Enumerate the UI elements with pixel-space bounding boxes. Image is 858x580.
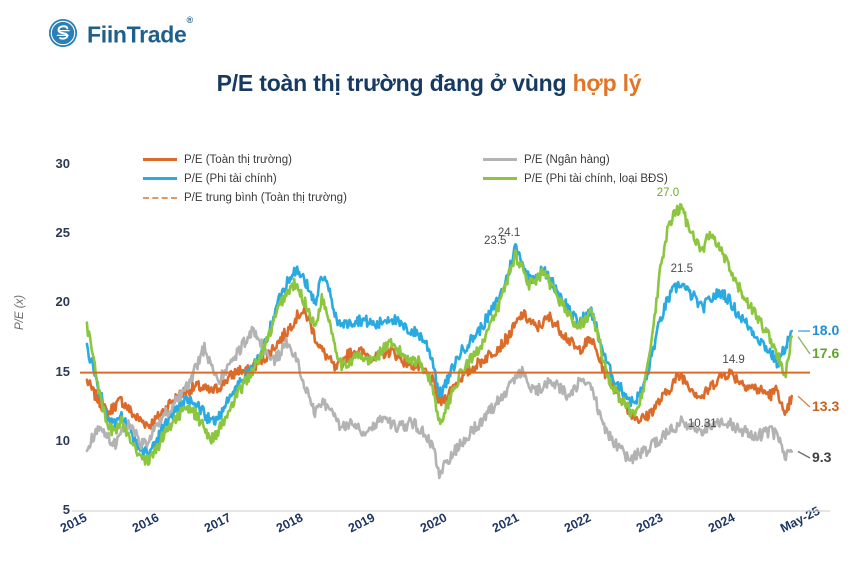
annotation-27-0: 27.0 bbox=[657, 187, 679, 199]
annotation-14-9: 14.9 bbox=[722, 354, 744, 366]
chart-plot-area: P/E (x) 51015202530 20152016201720182019… bbox=[0, 0, 858, 580]
annotation-21-5: 21.5 bbox=[671, 263, 693, 275]
annotation-10-31: 10.31 bbox=[688, 418, 717, 430]
chart-svg bbox=[0, 0, 858, 580]
chart-page: FiinTrade® P/E toàn thị trường đang ở vù… bbox=[0, 0, 858, 580]
end-label-18-0: 18.0 bbox=[812, 322, 839, 338]
annotation-23-5: 23.5 bbox=[484, 235, 506, 247]
end-label-leader bbox=[798, 451, 810, 458]
end-label-17-6: 17.6 bbox=[812, 345, 839, 361]
end-label-leader bbox=[798, 396, 810, 407]
end-label-9-3: 9.3 bbox=[812, 449, 831, 465]
end-label-leader bbox=[798, 337, 810, 354]
end-label-13-3: 13.3 bbox=[812, 398, 839, 414]
